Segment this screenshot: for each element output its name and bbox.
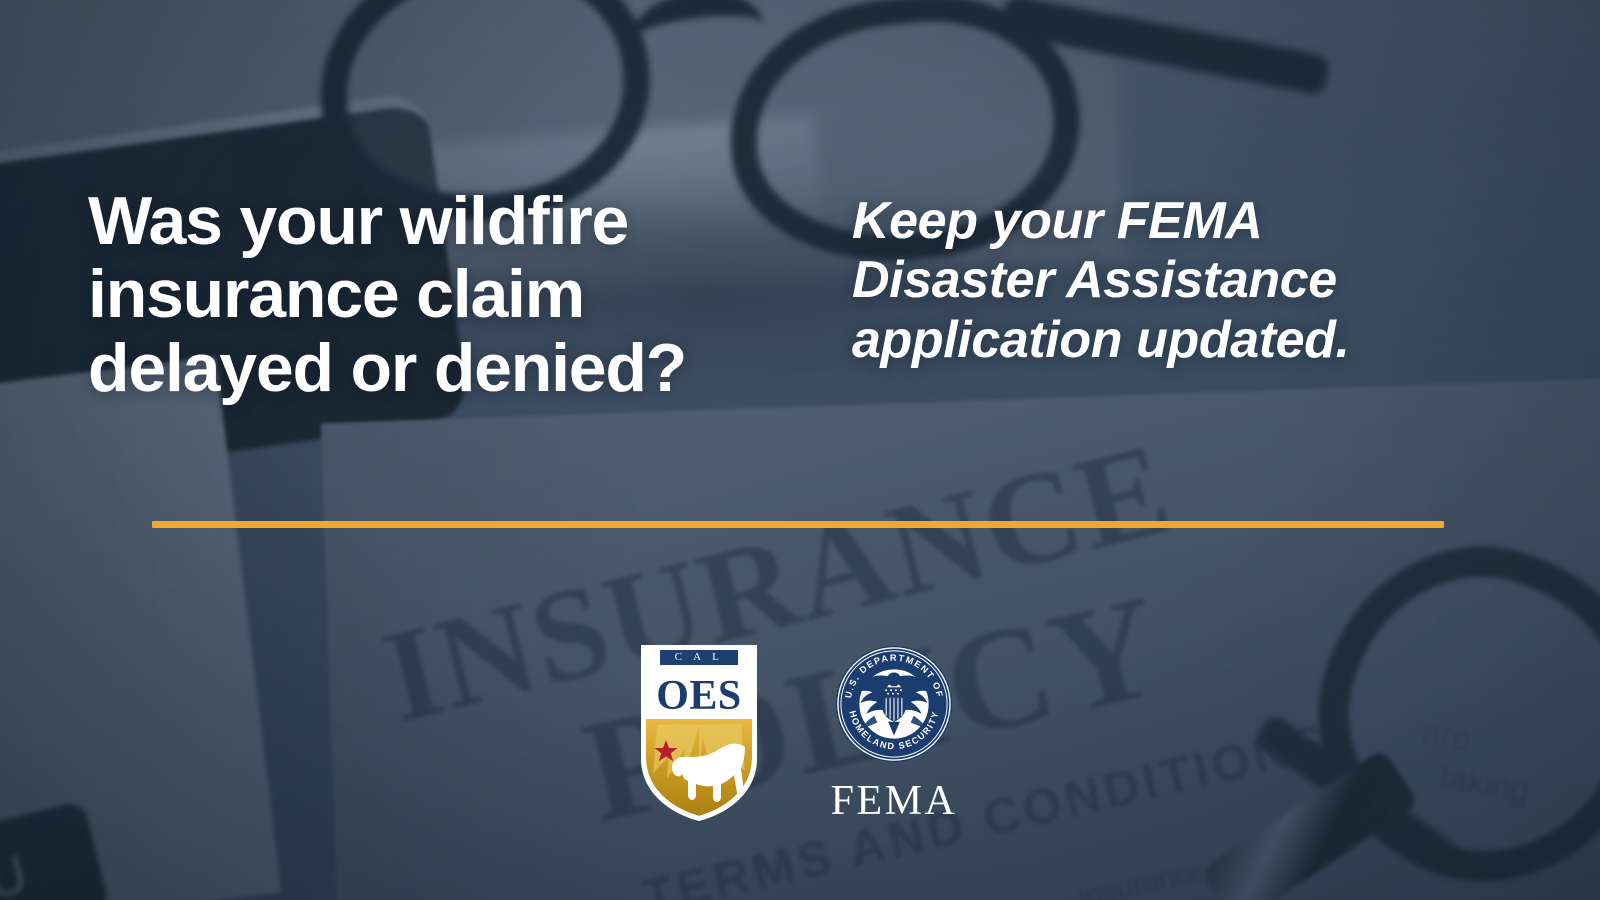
cal-oes-acronym-text: OES — [656, 673, 742, 719]
cal-oes-shield-icon: C A L OES — [641, 645, 757, 821]
subheadline: Keep your FEMA Disaster Assistance appli… — [852, 192, 1422, 370]
cal-oes-logo: C A L OES — [641, 645, 757, 821]
promo-graphic: INSURANCE POLICY TERMS AND CONDITIONS in… — [0, 0, 1600, 900]
headline: Was your wildfire insurance claim delaye… — [88, 185, 828, 405]
logo-row: C A L OES — [0, 640, 1600, 822]
dhs-seal-icon: U.S. DEPARTMENT OF HOMELAND SECURITY — [835, 645, 953, 763]
fema-wordmark: FEMA — [831, 780, 958, 822]
content-layer: Was your wildfire insurance claim delaye… — [0, 0, 1600, 900]
gold-divider-rule — [152, 521, 1444, 528]
cal-oes-banner-text: C A L — [675, 651, 724, 663]
fema-logo: U.S. DEPARTMENT OF HOMELAND SECURITY FEM… — [829, 645, 959, 822]
